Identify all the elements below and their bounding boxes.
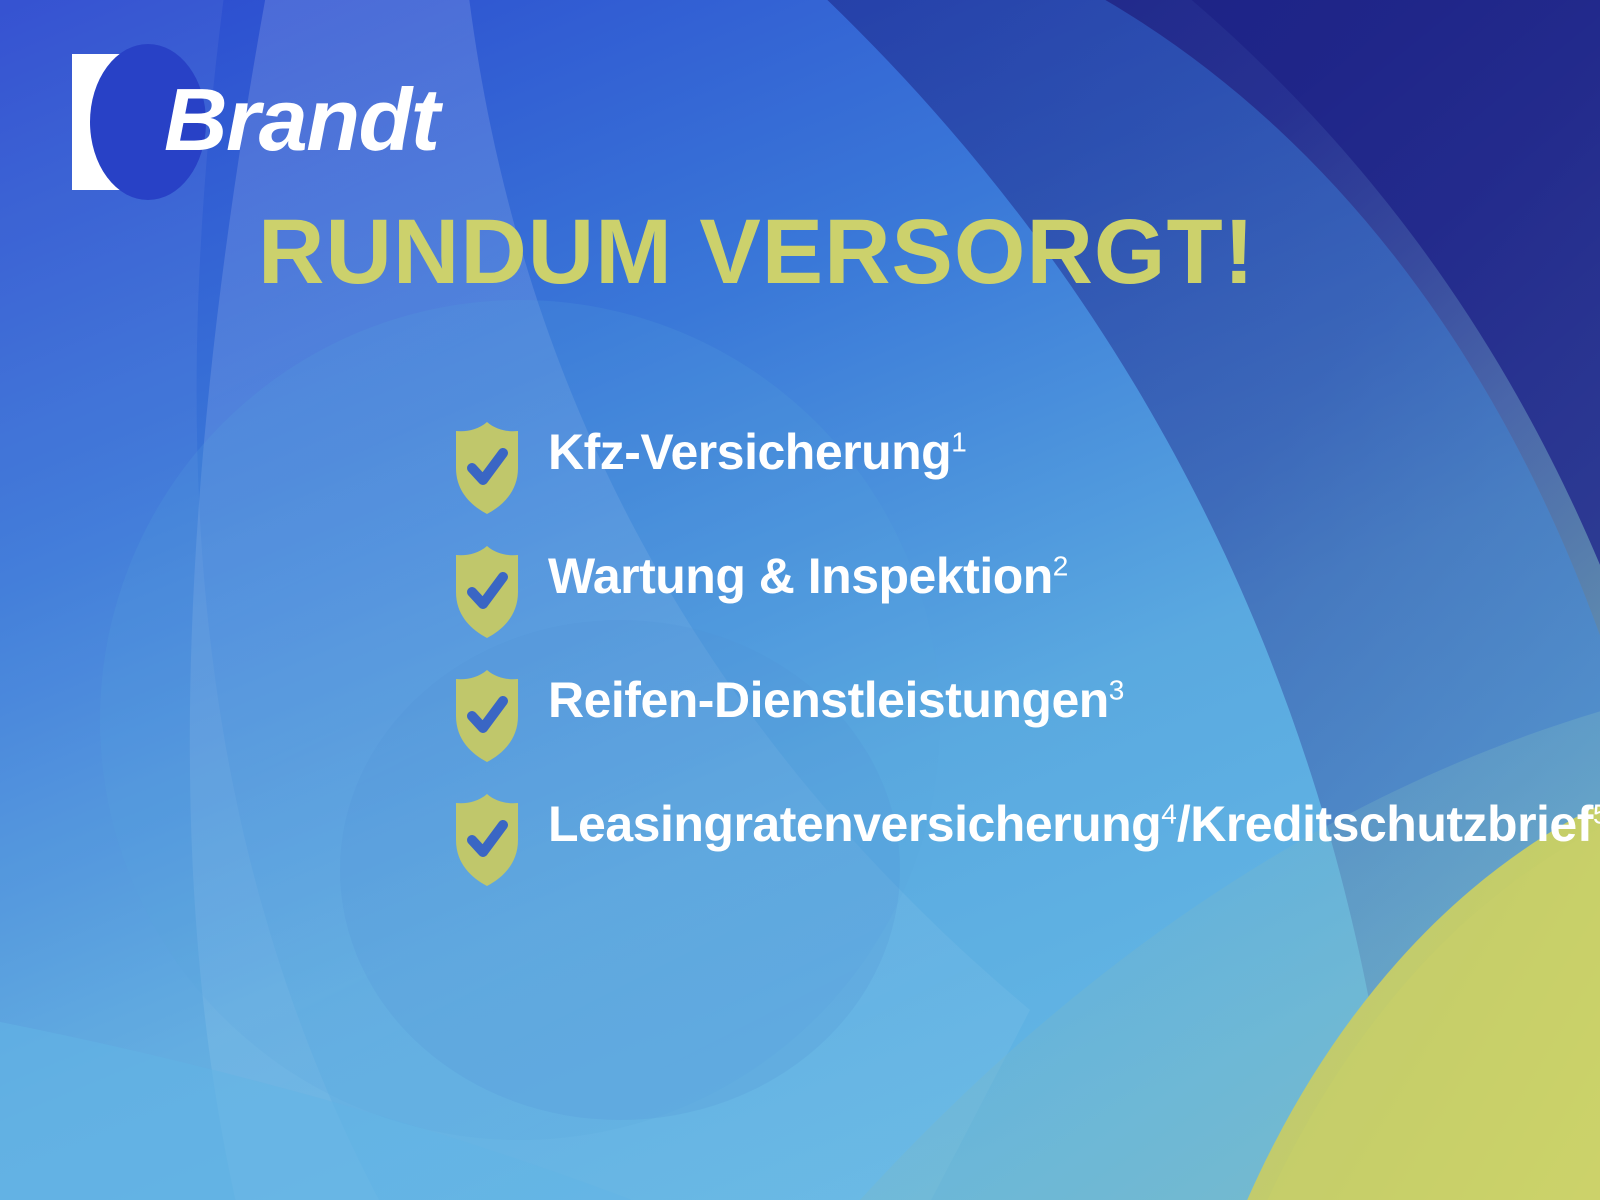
shield-check-icon [452, 792, 522, 888]
benefit-label: Wartung & Inspektion2 [548, 540, 1068, 607]
footnote-marker: 1 [951, 426, 967, 457]
benefit-label: Kfz-Versicherung1 [548, 416, 967, 483]
footnote-marker: 4 [1161, 798, 1177, 829]
benefit-label-text: Wartung & Inspektion [548, 548, 1053, 604]
bracket-mark-icon [72, 54, 150, 190]
shield-check-icon [452, 668, 522, 764]
list-item: Kfz-Versicherung1 [452, 416, 1452, 516]
footnote-marker: 3 [1109, 674, 1125, 705]
benefit-separator: / [1177, 796, 1190, 852]
footnote-marker: 5 [1593, 798, 1600, 829]
shield-check-icon [452, 544, 522, 640]
list-item: Reifen-Dienstleistungen3 [452, 664, 1452, 764]
list-item: Leasingratenversicherung4/Kreditschutzbr… [452, 788, 1452, 888]
benefit-label-text-line2: Kreditschutzbrief [1190, 796, 1593, 852]
benefit-label-text: Reifen-Dienstleistungen [548, 672, 1109, 728]
benefit-label-text: Leasingratenversicherung [548, 796, 1161, 852]
brand-logo: Brandt [72, 52, 439, 192]
promo-banner: Brandt RUNDUM VERSORGT! Kfz-Versicherung… [0, 0, 1600, 1200]
list-item: Wartung & Inspektion2 [452, 540, 1452, 640]
footnote-marker: 2 [1053, 550, 1069, 581]
brand-name: Brandt [164, 76, 439, 164]
shield-check-icon [452, 420, 522, 516]
benefit-label-text: Kfz-Versicherung [548, 424, 951, 480]
benefits-list: Kfz-Versicherung1 Wartung & Inspektion2 … [452, 416, 1452, 888]
benefit-label: Reifen-Dienstleistungen3 [548, 664, 1124, 731]
page-title: RUNDUM VERSORGT! [258, 204, 1255, 301]
benefit-label: Leasingratenversicherung4/Kreditschutzbr… [548, 788, 1600, 855]
